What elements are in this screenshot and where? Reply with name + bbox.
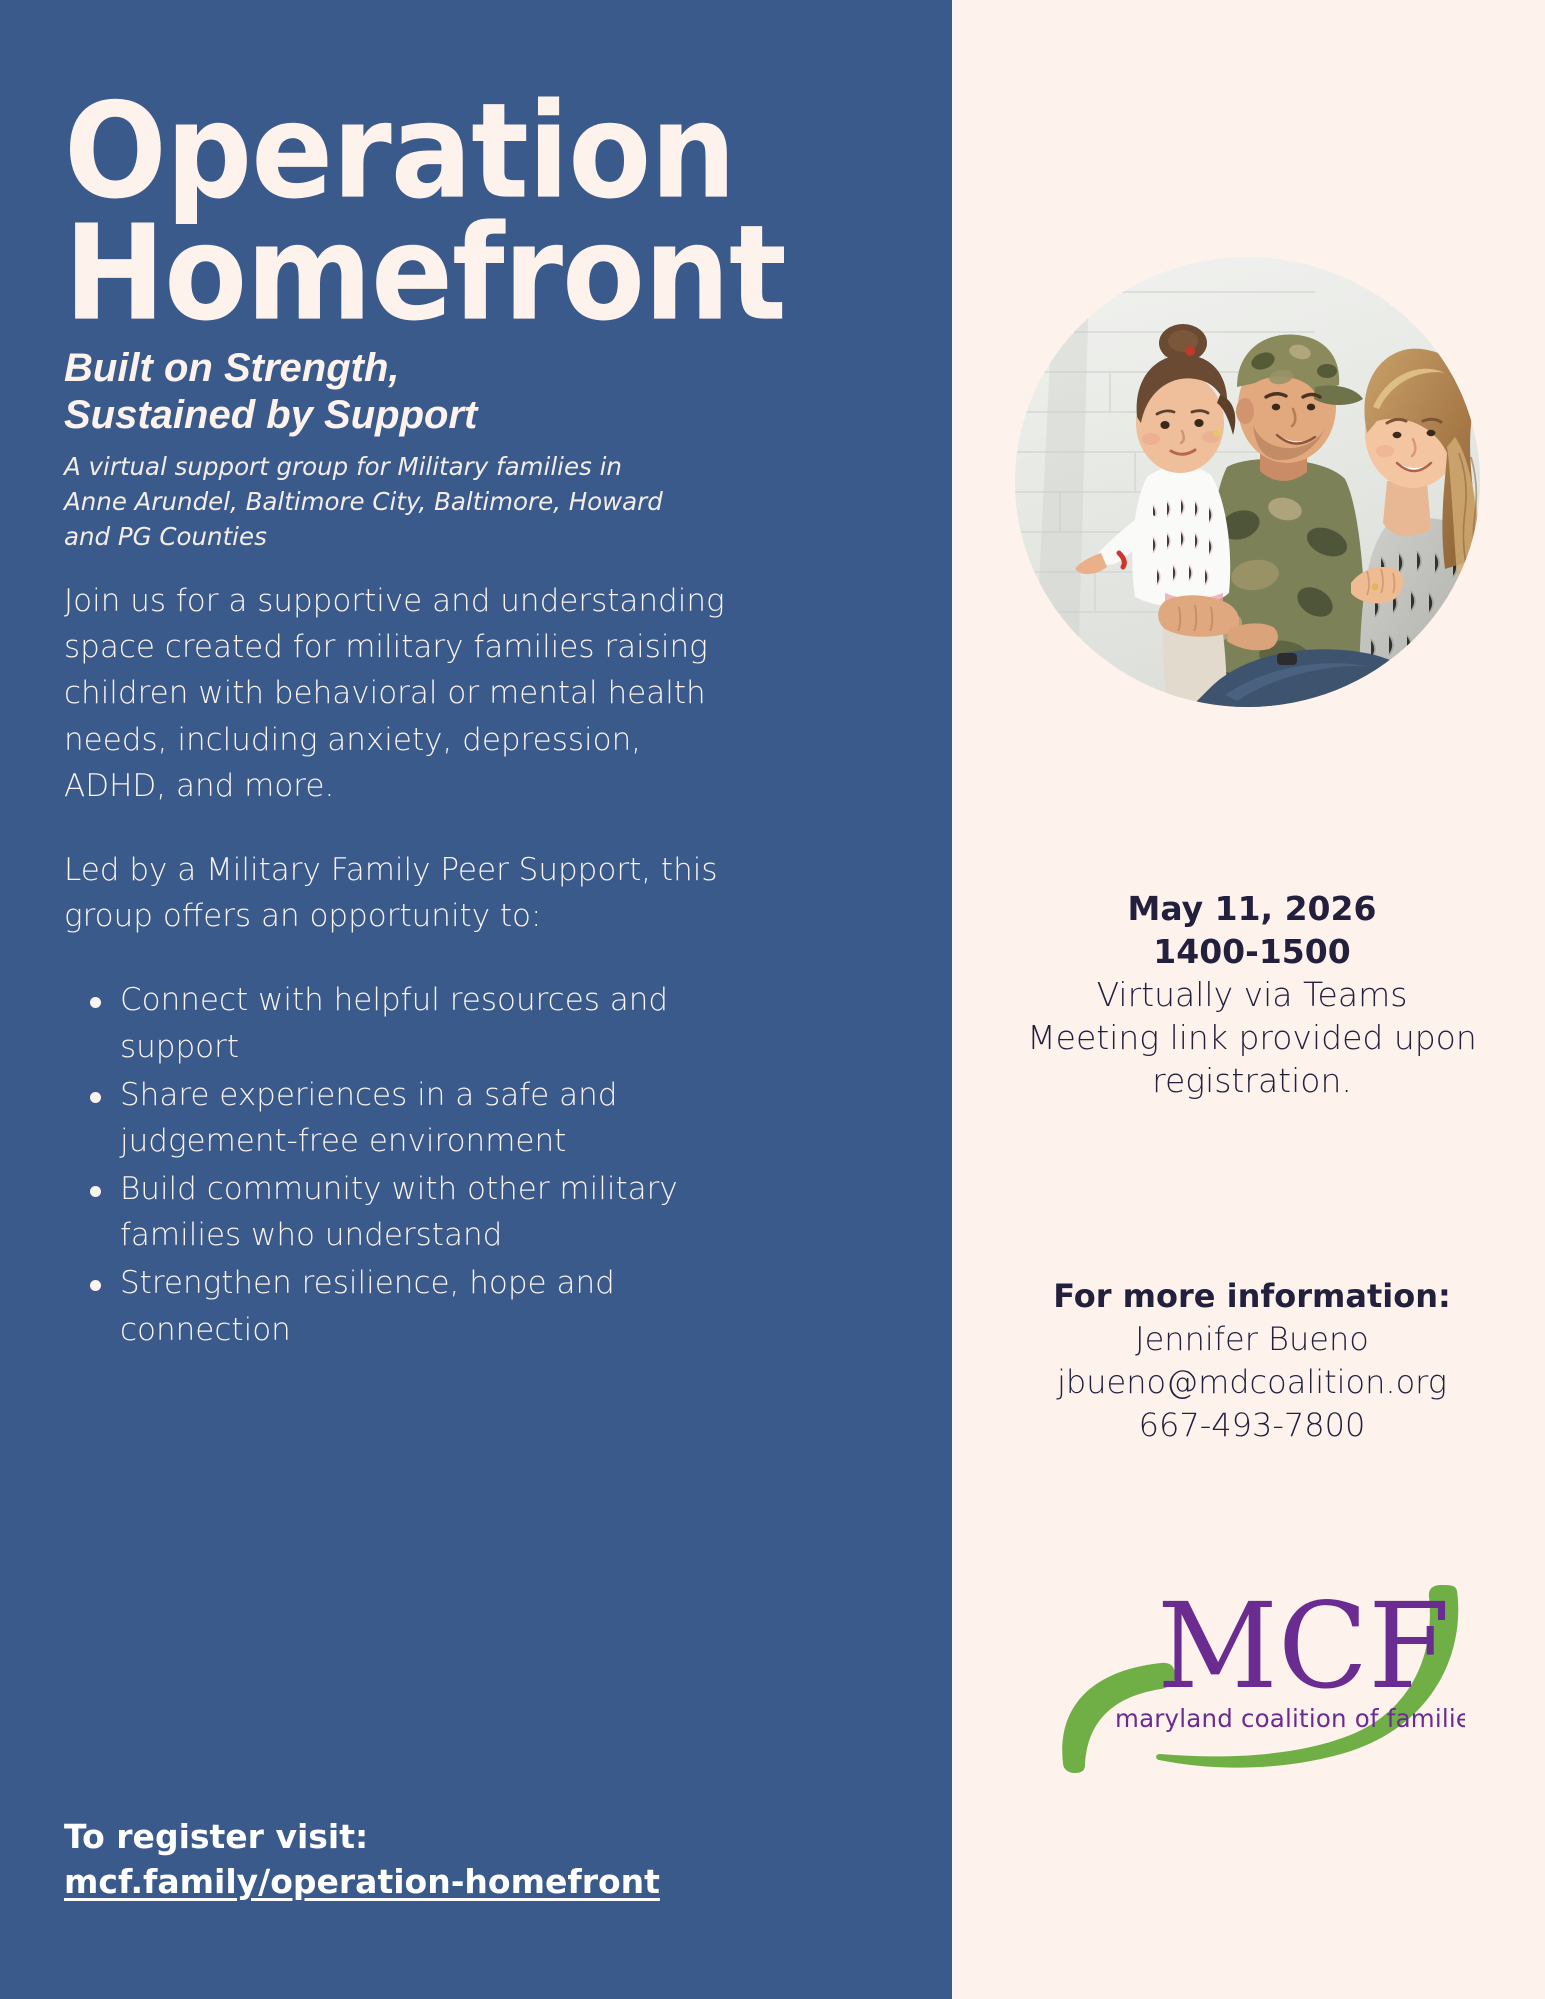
list-item: Strengthen resilience, hope and connecti… <box>64 1260 744 1352</box>
mcf-logo-graphic: MCF maryland coalition of families <box>1005 1555 1465 1810</box>
contact-name: Jennifer Bueno <box>962 1318 1542 1361</box>
bullet-dot-icon <box>90 1092 101 1103</box>
subtitle-line-1: Built on Strength, <box>64 345 784 392</box>
register-block: To register visit: mcf.family/operation-… <box>64 1815 824 1905</box>
benefits-list: Connect with helpful resources and suppo… <box>64 977 744 1353</box>
contact-heading: For more information: <box>962 1275 1542 1318</box>
title-line-2: Homefront <box>64 210 1184 339</box>
body-paragraph-1: Join us for a supportive and understandi… <box>64 578 744 809</box>
page-title: Operation Homefront <box>64 88 1064 316</box>
register-url-link[interactable]: mcf.family/operation-homefront <box>64 1860 660 1905</box>
contact-phone[interactable]: 667-493-7800 <box>962 1404 1542 1447</box>
list-item-label: Share experiences in a safe and judgemen… <box>120 1077 617 1159</box>
contact-email[interactable]: jbueno@mdcoalition.org <box>962 1361 1542 1404</box>
event-time: 1400-1500 <box>962 931 1542 974</box>
list-item: Share experiences in a safe and judgemen… <box>64 1072 744 1164</box>
bullet-dot-icon <box>90 997 101 1008</box>
event-note: Meeting link provided upon registration. <box>962 1017 1542 1103</box>
list-item-label: Strengthen resilience, hope and connecti… <box>120 1265 615 1347</box>
bullet-dot-icon <box>90 1280 101 1291</box>
flyer-page: Operation Homefront Built on Strength, S… <box>0 0 1545 1999</box>
event-date: May 11, 2026 <box>962 888 1542 931</box>
subtitle-line-2: Sustained by Support <box>64 392 784 439</box>
subtitle: Built on Strength, Sustained by Support <box>64 345 784 439</box>
event-platform: Virtually via Teams <box>962 974 1542 1017</box>
logo-tagline: maryland coalition of families <box>1115 1704 1465 1733</box>
mcf-logo: MCF maryland coalition of families <box>1005 1555 1465 1810</box>
bullet-dot-icon <box>90 1186 101 1197</box>
logo-mark-text: MCF <box>1157 1577 1450 1715</box>
list-item-label: Build community with other military fami… <box>120 1171 678 1253</box>
list-item: Connect with helpful resources and suppo… <box>64 977 744 1069</box>
list-item-label: Connect with helpful resources and suppo… <box>120 982 668 1064</box>
contact-details: For more information: Jennifer Bueno jbu… <box>962 1275 1542 1447</box>
description-text: A virtual support group for Military fam… <box>64 450 684 554</box>
body-content: Join us for a supportive and understandi… <box>64 578 744 1355</box>
body-paragraph-2: Led by a Military Family Peer Support, t… <box>64 847 744 939</box>
event-details: May 11, 2026 1400-1500 Virtually via Tea… <box>962 888 1542 1102</box>
list-item: Build community with other military fami… <box>64 1166 744 1258</box>
register-label: To register visit: <box>64 1815 824 1860</box>
